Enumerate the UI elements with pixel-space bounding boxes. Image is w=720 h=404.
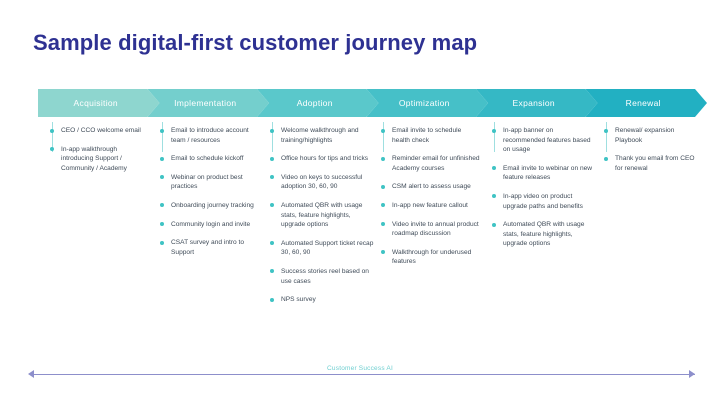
journey-item-text: Email to introduce account team / resour… bbox=[171, 127, 249, 144]
bullet-dot-icon bbox=[50, 129, 54, 133]
stage-column-renewal: Renewal/ expansion PlaybookThank you ema… bbox=[604, 126, 696, 182]
timeline-axis bbox=[33, 374, 695, 375]
journey-item: Video on keys to successful adoption 30,… bbox=[270, 173, 374, 192]
journey-item-text: Email invite to webinar on new feature r… bbox=[503, 165, 592, 182]
journey-item-text: Walkthrough for underused features bbox=[392, 249, 471, 266]
journey-item-text: Office hours for tips and tricks bbox=[281, 155, 368, 162]
journey-item-text: Email invite to schedule health check bbox=[392, 127, 461, 144]
bullet-dot-icon bbox=[160, 203, 164, 207]
bullet-dot-icon bbox=[492, 166, 496, 170]
stage-chevron-expansion[interactable]: Expansion bbox=[476, 89, 598, 117]
journey-item: Email to schedule kickoff bbox=[160, 154, 260, 164]
journey-item: Video invite to annual product roadmap d… bbox=[381, 220, 481, 239]
stage-chevron-implementation[interactable]: Implementation bbox=[148, 89, 270, 117]
bullet-dot-icon bbox=[160, 175, 164, 179]
stage-column-acquisition: CEO / CCO welcome emailIn-app walkthroug… bbox=[50, 126, 145, 182]
journey-item: In-app walkthrough introducing Support /… bbox=[50, 145, 145, 174]
journey-item: Thank you email from CEO for renewal bbox=[604, 154, 696, 173]
bullet-dot-icon bbox=[381, 185, 385, 189]
journey-item: Email invite to schedule health check bbox=[381, 126, 481, 145]
journey-item-text: Webinar on product best practices bbox=[171, 174, 243, 191]
stage-column-adoption: Welcome walkthrough and training/highlig… bbox=[270, 126, 374, 314]
bullet-dot-icon bbox=[270, 157, 274, 161]
stage-label: Optimization bbox=[399, 98, 456, 108]
journey-item: Office hours for tips and tricks bbox=[270, 154, 374, 164]
bullet-dot-icon bbox=[381, 157, 385, 161]
stage-chevron-optimization[interactable]: Optimization bbox=[367, 89, 489, 117]
journey-item-text: Renewal/ expansion Playbook bbox=[615, 127, 674, 144]
bullet-dot-icon bbox=[381, 250, 385, 254]
page-title: Sample digital-first customer journey ma… bbox=[33, 30, 477, 56]
bullet-dot-icon bbox=[160, 222, 164, 226]
journey-item: Renewal/ expansion Playbook bbox=[604, 126, 696, 145]
journey-item-text: Thank you email from CEO for renewal bbox=[615, 155, 695, 172]
bullet-dot-icon bbox=[604, 157, 608, 161]
journey-item: In-app video on product upgrade paths an… bbox=[492, 192, 597, 211]
axis-label: Customer Success AI bbox=[0, 365, 720, 372]
journey-item: Success stories reel based on use cases bbox=[270, 267, 374, 286]
bullet-dot-icon bbox=[160, 157, 164, 161]
journey-map-slide: Sample digital-first customer journey ma… bbox=[0, 0, 720, 404]
journey-item-text: Automated QBR with usage stats, feature … bbox=[503, 221, 584, 247]
journey-item: Email to introduce account team / resour… bbox=[160, 126, 260, 145]
stage-chevron-acquisition[interactable]: Acquisition bbox=[38, 89, 160, 117]
journey-item: CSAT survey and intro to Support bbox=[160, 238, 260, 257]
stage-column-optimization: Email invite to schedule health checkRem… bbox=[381, 126, 481, 276]
journey-item-text: Welcome walkthrough and training/highlig… bbox=[281, 127, 359, 144]
journey-item-text: In-app video on product upgrade paths an… bbox=[503, 193, 583, 210]
journey-item: In-app banner on recommended features ba… bbox=[492, 126, 597, 155]
stage-label: Expansion bbox=[513, 98, 561, 108]
journey-item-text: Onboarding journey tracking bbox=[171, 202, 254, 209]
bullet-dot-icon bbox=[492, 223, 496, 227]
journey-item-text: In-app walkthrough introducing Support /… bbox=[61, 146, 127, 172]
journey-item: NPS survey bbox=[270, 295, 374, 305]
journey-item-text: In-app banner on recommended features ba… bbox=[503, 127, 591, 153]
bullet-dot-icon bbox=[160, 129, 164, 133]
journey-item: In-app new feature callout bbox=[381, 201, 481, 211]
journey-item: Walkthrough for underused features bbox=[381, 248, 481, 267]
journey-item-text: CSM alert to assess usage bbox=[392, 183, 471, 190]
journey-item-text: NPS survey bbox=[281, 296, 316, 303]
journey-item: Automated Support ticket recap 30, 60, 9… bbox=[270, 239, 374, 258]
stage-label: Renewal bbox=[626, 98, 667, 108]
journey-item: Welcome walkthrough and training/highlig… bbox=[270, 126, 374, 145]
journey-item-text: Video invite to annual product roadmap d… bbox=[392, 221, 479, 238]
bullet-dot-icon bbox=[270, 298, 274, 302]
journey-item-text: CSAT survey and intro to Support bbox=[171, 239, 244, 256]
bullet-dot-icon bbox=[270, 129, 274, 133]
stage-chevron-adoption[interactable]: Adoption bbox=[257, 89, 379, 117]
journey-item-text: Automated Support ticket recap 30, 60, 9… bbox=[281, 240, 373, 257]
journey-item-text: Reminder email for unfinished Academy co… bbox=[392, 155, 480, 172]
journey-item: Webinar on product best practices bbox=[160, 173, 260, 192]
bullet-dot-icon bbox=[270, 241, 274, 245]
bullet-dot-icon bbox=[381, 222, 385, 226]
journey-item: Email invite to webinar on new feature r… bbox=[492, 164, 597, 183]
bullet-dot-icon bbox=[604, 129, 608, 133]
bullet-dot-icon bbox=[270, 269, 274, 273]
journey-item-text: In-app new feature callout bbox=[392, 202, 468, 209]
journey-item-text: Community login and invite bbox=[171, 221, 250, 228]
journey-item-text: Automated QBR with usage stats, feature … bbox=[281, 202, 362, 228]
journey-item: Automated QBR with usage stats, feature … bbox=[492, 220, 597, 249]
stage-label: Adoption bbox=[297, 98, 339, 108]
bullet-dot-icon bbox=[270, 203, 274, 207]
bullet-dot-icon bbox=[270, 175, 274, 179]
journey-item: Automated QBR with usage stats, feature … bbox=[270, 201, 374, 230]
stage-chevron-renewal[interactable]: Renewal bbox=[586, 89, 708, 117]
journey-item: CSM alert to assess usage bbox=[381, 182, 481, 192]
bullet-dot-icon bbox=[50, 147, 54, 151]
journey-item: Community login and invite bbox=[160, 220, 260, 230]
journey-item-text: Video on keys to successful adoption 30,… bbox=[281, 174, 362, 191]
bullet-dot-icon bbox=[381, 129, 385, 133]
stage-label: Implementation bbox=[174, 98, 242, 108]
journey-item: Reminder email for unfinished Academy co… bbox=[381, 154, 481, 173]
journey-item: Onboarding journey tracking bbox=[160, 201, 260, 211]
bullet-dot-icon bbox=[160, 241, 164, 245]
bullet-dot-icon bbox=[381, 203, 385, 207]
stage-chevron-band: AcquisitionImplementationAdoptionOptimiz… bbox=[38, 89, 695, 117]
bullet-dot-icon bbox=[492, 194, 496, 198]
stage-column-expansion: In-app banner on recommended features ba… bbox=[492, 126, 597, 258]
journey-item-text: Success stories reel based on use cases bbox=[281, 268, 369, 285]
journey-item-text: Email to schedule kickoff bbox=[171, 155, 243, 162]
stage-label: Acquisition bbox=[74, 98, 124, 108]
stage-column-implementation: Email to introduce account team / resour… bbox=[160, 126, 260, 266]
journey-item-text: CEO / CCO welcome email bbox=[61, 127, 141, 134]
bullet-dot-icon bbox=[492, 129, 496, 133]
journey-item: CEO / CCO welcome email bbox=[50, 126, 145, 136]
